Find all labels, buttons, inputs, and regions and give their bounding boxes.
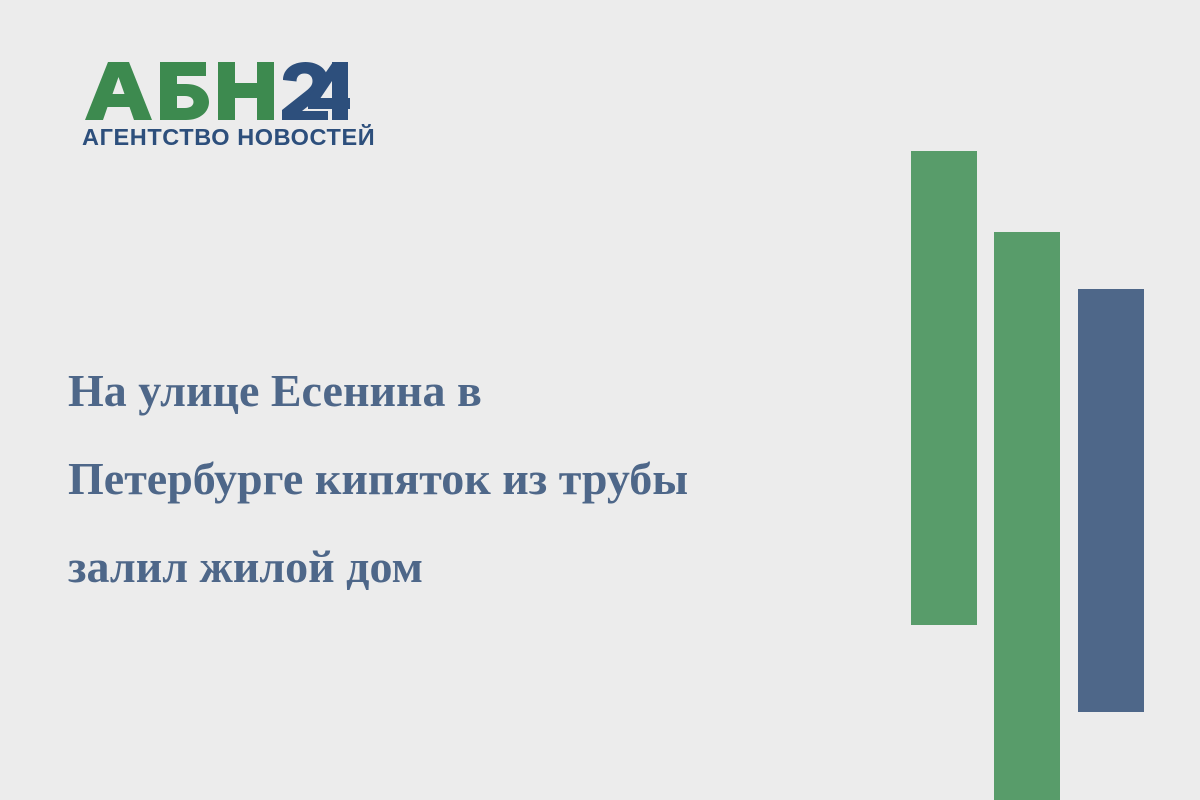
bar-short-blue — [1078, 289, 1144, 712]
headline-line-3: залил жилой дом — [68, 523, 878, 611]
abn24-logo-mark — [82, 62, 350, 120]
abn24-logo[interactable]: АГЕНТСТВО НОВОСТЕЙ — [82, 62, 372, 162]
headline-line-1: На улице Есенина в — [68, 347, 878, 435]
bar-mid-green — [994, 232, 1060, 800]
logo-subtitle: АГЕНТСТВО НОВОСТЕЙ — [82, 126, 372, 150]
headline: На улице Есенина в Петербурге кипяток из… — [68, 347, 878, 611]
headline-line-2: Петербурге кипяток из трубы — [68, 435, 878, 523]
news-card: АГЕНТСТВО НОВОСТЕЙ На улице Есенина в Пе… — [0, 0, 1200, 800]
bar-tall-green — [911, 151, 977, 625]
